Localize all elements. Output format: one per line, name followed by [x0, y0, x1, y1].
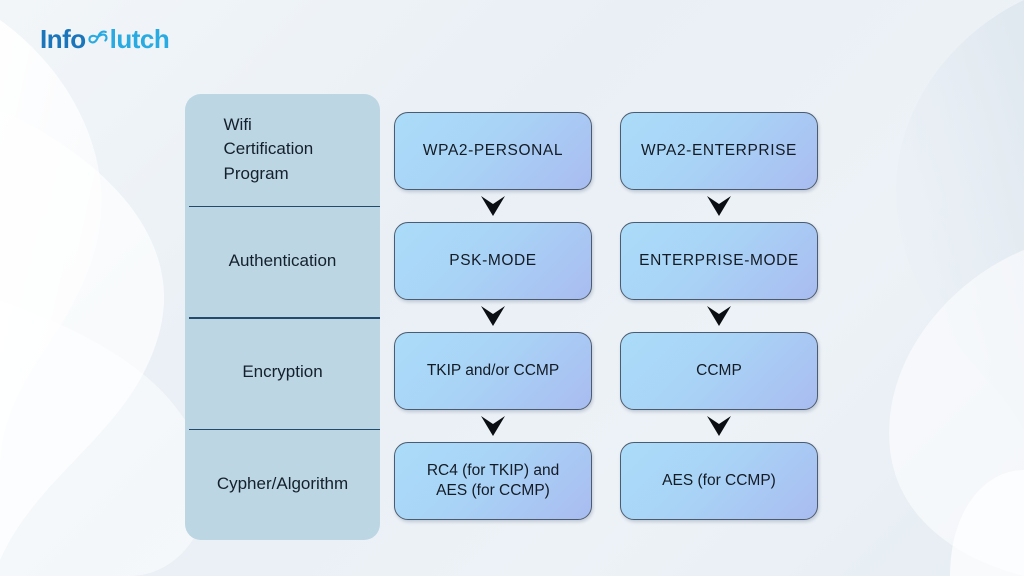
node-label: WPA2-ENTERPRISE	[641, 141, 797, 161]
flow-column-personal: WPA2-PERSONAL PSK-MODE TKIP and/or CCMP …	[394, 112, 592, 520]
arrow-connector	[620, 190, 818, 222]
category-row-authentication: Authentication	[185, 206, 380, 318]
diagram-canvas: Infolutch Wifi Certification Program Aut…	[0, 0, 1024, 576]
node-wpa2-enterprise[interactable]: WPA2-ENTERPRISE	[620, 112, 818, 190]
category-label-panel: Wifi Certification Program Authenticatio…	[185, 94, 380, 540]
node-label: RC4 (for TKIP) and AES (for CCMP)	[427, 461, 559, 501]
category-label: Authentication	[229, 249, 337, 274]
node-ccmp[interactable]: CCMP	[620, 332, 818, 410]
category-row-encryption: Encryption	[185, 317, 380, 429]
node-tkip-andor-ccmp[interactable]: TKIP and/or CCMP	[394, 332, 592, 410]
chevron-down-arrow-icon	[479, 304, 507, 328]
category-label: Encryption	[242, 360, 322, 385]
chevron-down-arrow-icon	[705, 414, 733, 438]
node-label: TKIP and/or CCMP	[427, 361, 559, 381]
node-wpa2-personal[interactable]: WPA2-PERSONAL	[394, 112, 592, 190]
node-enterprise-mode[interactable]: ENTERPRISE-MODE	[620, 222, 818, 300]
chevron-down-arrow-icon	[705, 304, 733, 328]
node-label: AES (for CCMP)	[662, 471, 776, 491]
brand-name-part1: Info	[40, 26, 86, 52]
flow-column-enterprise: WPA2-ENTERPRISE ENTERPRISE-MODE CCMP AES…	[620, 112, 818, 520]
category-label: Cypher/Algorithm	[217, 472, 348, 497]
brand-logo[interactable]: Infolutch	[40, 26, 169, 52]
arrow-connector	[620, 410, 818, 442]
node-label: WPA2-PERSONAL	[423, 141, 563, 161]
arrow-connector	[394, 300, 592, 332]
arrow-connector	[394, 190, 592, 222]
arrow-connector	[620, 300, 818, 332]
node-label: ENTERPRISE-MODE	[639, 251, 799, 271]
node-label: PSK-MODE	[449, 251, 536, 271]
chevron-down-arrow-icon	[705, 194, 733, 218]
node-aes-for-ccmp[interactable]: AES (for CCMP)	[620, 442, 818, 520]
infinity-loop-icon	[87, 26, 109, 52]
node-rc4-and-aes[interactable]: RC4 (for TKIP) and AES (for CCMP)	[394, 442, 592, 520]
category-row-wifi-certification-program: Wifi Certification Program	[185, 94, 380, 206]
node-label: CCMP	[696, 361, 742, 381]
arrow-connector	[394, 410, 592, 442]
category-row-cypher-algorithm: Cypher/Algorithm	[185, 429, 380, 541]
chevron-down-arrow-icon	[479, 414, 507, 438]
category-label: Wifi Certification Program	[224, 113, 354, 187]
chevron-down-arrow-icon	[479, 194, 507, 218]
brand-name-part2: lutch	[110, 26, 170, 52]
node-psk-mode[interactable]: PSK-MODE	[394, 222, 592, 300]
